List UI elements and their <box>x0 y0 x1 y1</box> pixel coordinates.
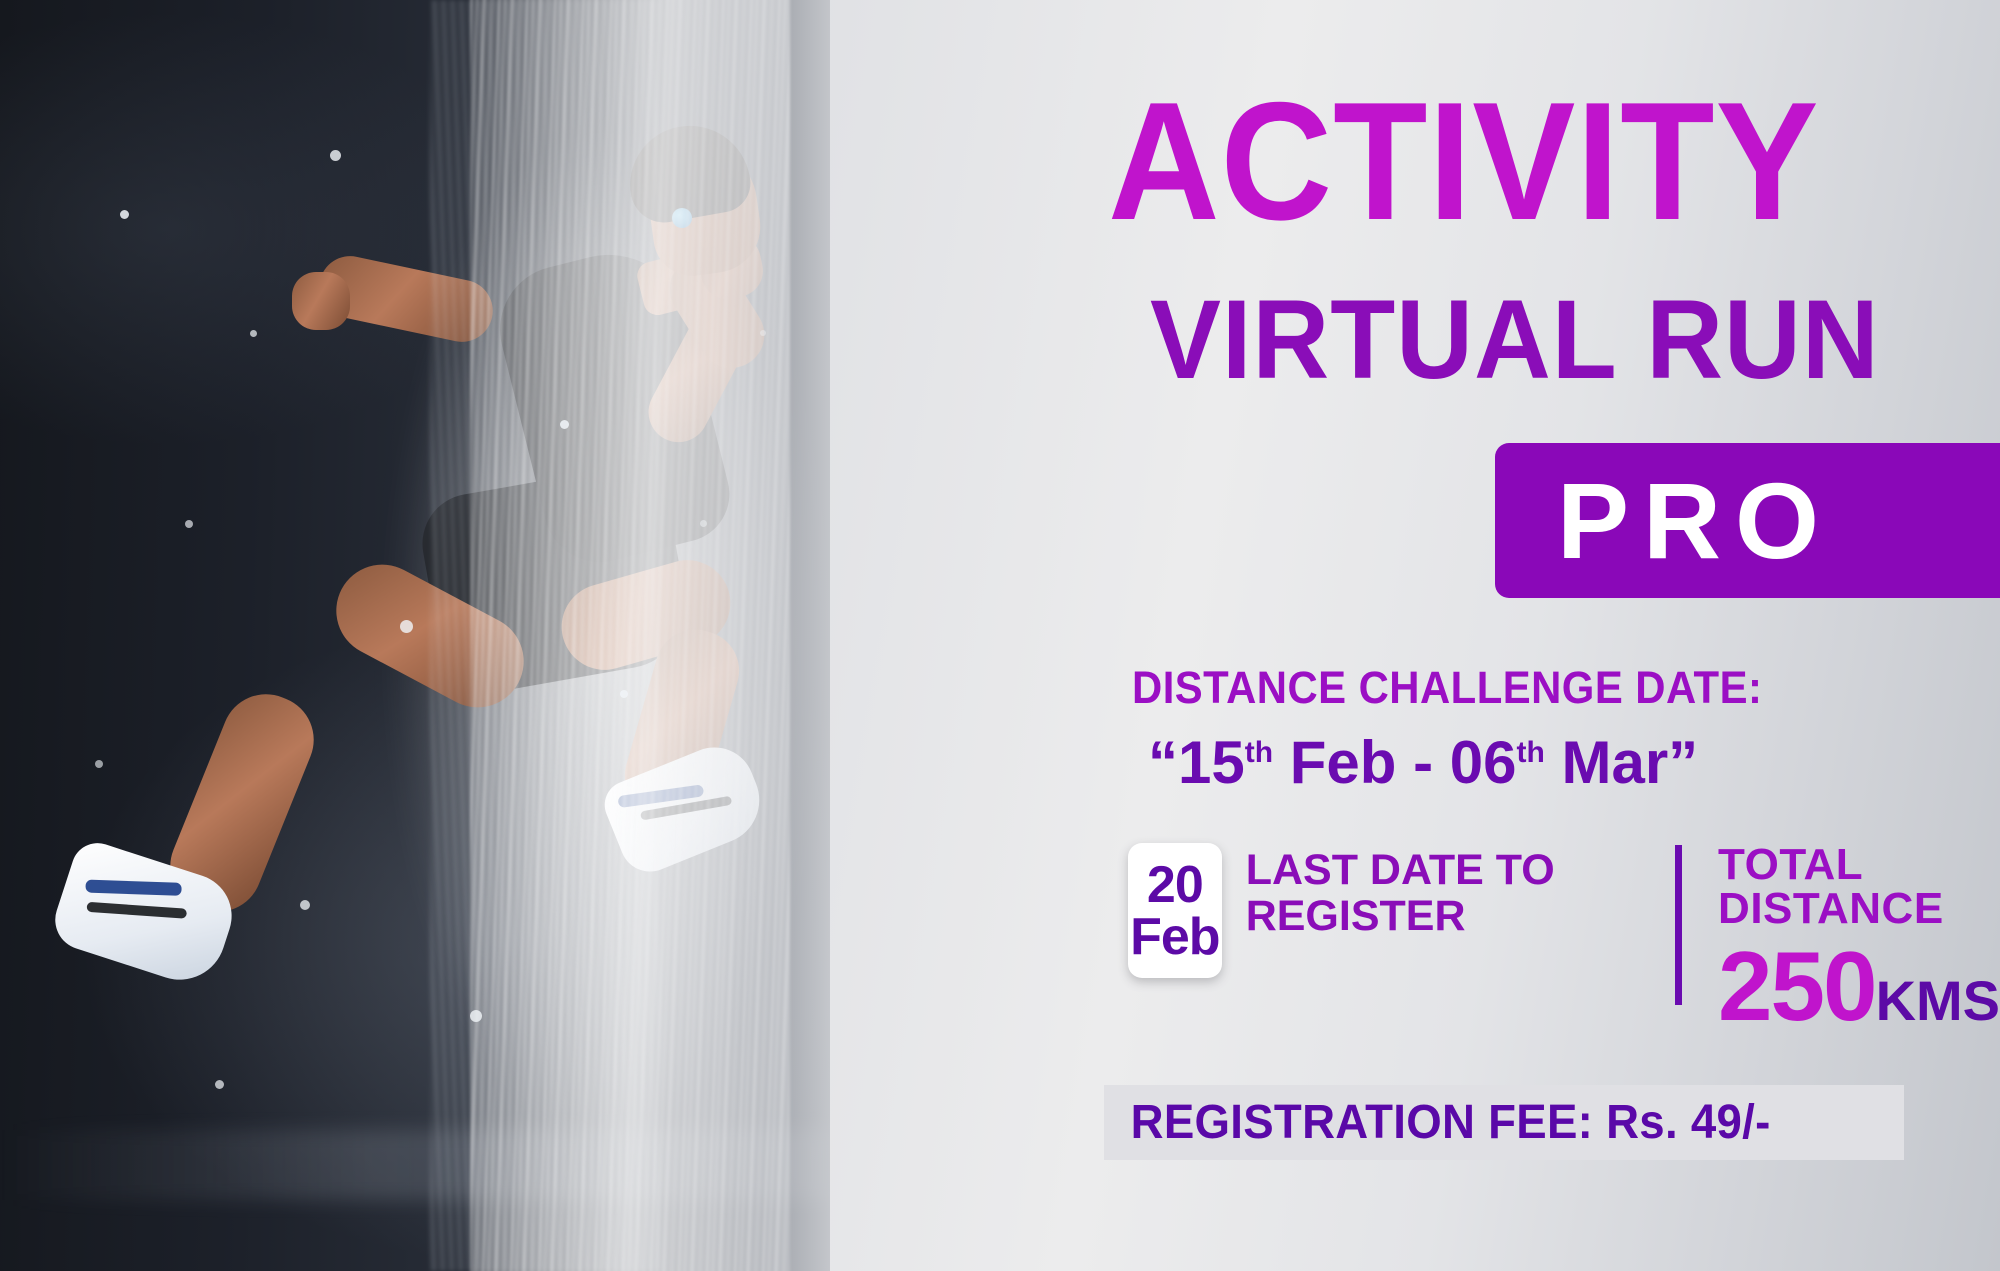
subtitle: VIRTUAL RUN <box>1150 288 1880 391</box>
water-droplet <box>215 1080 224 1089</box>
water-droplet <box>400 620 413 633</box>
photo-edge-fade <box>600 0 830 1271</box>
promo-poster: ACTIVITY VIRTUAL RUN PRO DISTANCE CHALLE… <box>0 0 2000 1271</box>
water-droplet <box>560 420 569 429</box>
total-distance-value: 250KMS <box>1718 937 2000 1035</box>
date-ordinal-suffix: th <box>1245 736 1273 769</box>
date-range-end: Mar” <box>1545 729 1698 796</box>
challenge-date-label: DISTANCE CHALLENGE DATE: <box>1132 662 1762 714</box>
challenge-date-value: “15th Feb - 06th Mar” <box>1148 728 1698 797</box>
info-row: 20 Feb LAST DATE TO REGISTER TOTAL DISTA… <box>1128 843 2000 1035</box>
last-date-day: 20 <box>1147 859 1203 911</box>
water-droplet <box>120 210 129 219</box>
shoe-stripe-dark <box>87 902 187 919</box>
shoe-stripe-blue <box>85 880 181 896</box>
registration-fee-text: REGISTRATION FEE: Rs. 49/- <box>1104 1095 1771 1150</box>
page-title: ACTIVITY <box>1108 84 1819 239</box>
water-droplet <box>330 150 341 161</box>
date-range-start: “15 <box>1148 729 1245 796</box>
pro-badge: PRO <box>1495 443 2000 598</box>
last-date-caption: LAST DATE TO REGISTER <box>1246 843 1642 940</box>
total-distance-block: TOTAL DISTANCE 250KMS <box>1718 843 2000 1035</box>
water-droplet <box>470 1010 482 1022</box>
total-distance-number: 250 <box>1718 931 1876 1041</box>
date-ordinal-suffix: th <box>1516 736 1544 769</box>
last-date-card: 20 Feb <box>1128 843 1222 978</box>
runner-back-fist <box>292 272 350 330</box>
water-droplet <box>185 520 193 528</box>
water-droplet <box>250 330 257 337</box>
total-distance-unit: KMS <box>1876 969 2000 1032</box>
water-droplet <box>300 900 310 910</box>
total-distance-label: TOTAL DISTANCE <box>1718 843 2000 931</box>
water-droplet <box>95 760 103 768</box>
runner-photo <box>0 0 830 1271</box>
last-date-month: Feb <box>1130 911 1219 963</box>
registration-fee-bar: REGISTRATION FEE: Rs. 49/- <box>1104 1085 1904 1160</box>
pro-badge-label: PRO <box>1495 467 1833 575</box>
date-range-middle: Feb - 06 <box>1273 729 1516 796</box>
section-divider <box>1675 845 1682 1005</box>
